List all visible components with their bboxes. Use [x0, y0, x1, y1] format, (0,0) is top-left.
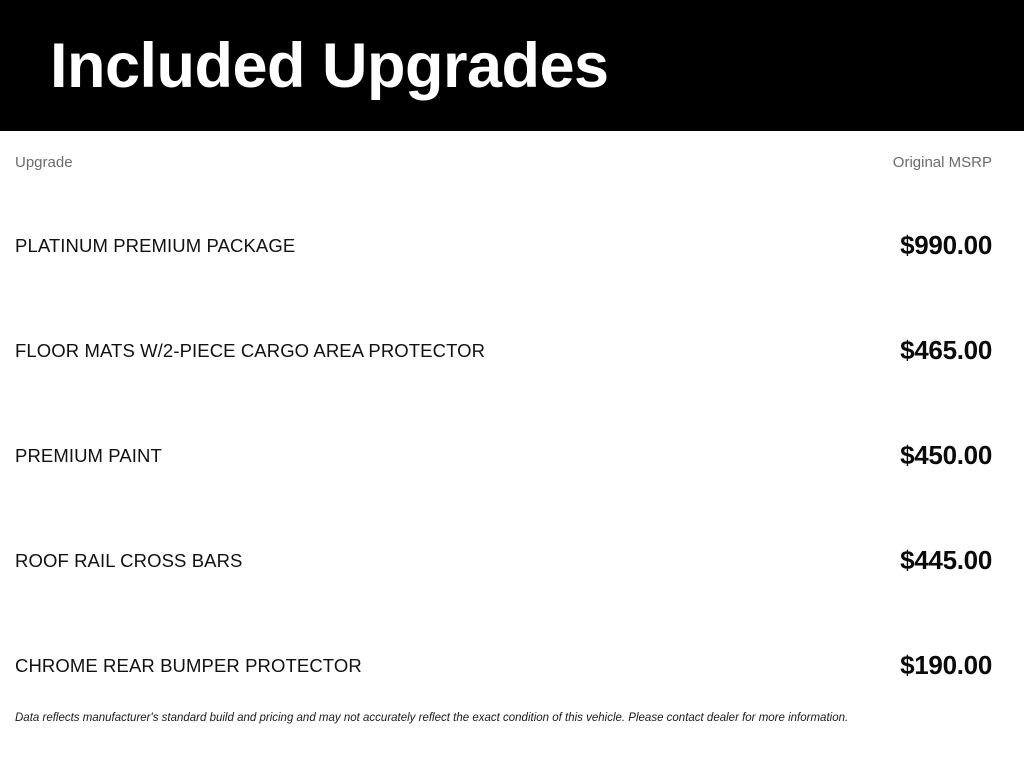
table-row: PREMIUM PAINT $450.00 [15, 403, 992, 508]
included-upgrades-page: Included Upgrades Upgrade Original MSRP … [0, 0, 1024, 768]
table-row: CHROME REAR BUMPER PROTECTOR $190.00 [15, 613, 992, 718]
upgrade-price: $465.00 [504, 298, 993, 403]
column-header-original-msrp: Original MSRP [504, 131, 993, 193]
upgrade-price: $450.00 [504, 403, 993, 508]
upgrade-name: ROOF RAIL CROSS BARS [15, 508, 504, 613]
table-header: Upgrade Original MSRP [15, 131, 992, 193]
upgrades-table-container: Upgrade Original MSRP PLATINUM PREMIUM P… [0, 131, 1024, 718]
upgrade-name: CHROME REAR BUMPER PROTECTOR [15, 613, 504, 718]
page-title: Included Upgrades [50, 26, 609, 106]
upgrade-price: $445.00 [504, 508, 993, 613]
upgrades-table: Upgrade Original MSRP PLATINUM PREMIUM P… [15, 131, 992, 718]
upgrade-name: PLATINUM PREMIUM PACKAGE [15, 193, 504, 298]
table-body: PLATINUM PREMIUM PACKAGE $990.00 FLOOR M… [15, 193, 992, 718]
table-row: PLATINUM PREMIUM PACKAGE $990.00 [15, 193, 992, 298]
table-row: FLOOR MATS W/2-PIECE CARGO AREA PROTECTO… [15, 298, 992, 403]
table-row: ROOF RAIL CROSS BARS $445.00 [15, 508, 992, 613]
disclaimer-text: Data reflects manufacturer's standard bu… [15, 711, 1005, 725]
upgrade-price: $190.00 [504, 613, 993, 718]
table-header-row: Upgrade Original MSRP [15, 131, 992, 193]
page-header-band: Included Upgrades [0, 0, 1024, 131]
column-header-upgrade: Upgrade [15, 131, 504, 193]
upgrade-name: FLOOR MATS W/2-PIECE CARGO AREA PROTECTO… [15, 298, 504, 403]
upgrade-name: PREMIUM PAINT [15, 403, 504, 508]
upgrade-price: $990.00 [504, 193, 993, 298]
